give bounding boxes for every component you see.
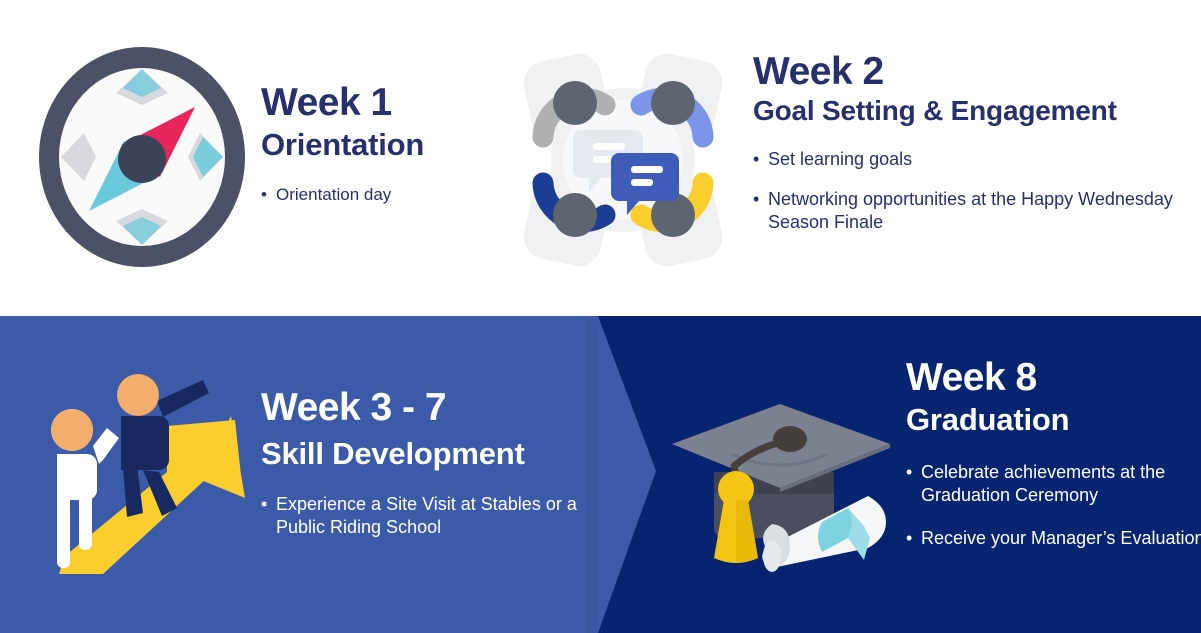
onboarding-journey-infographic: Week 1 Orientation • Orientation day Wee… xyxy=(0,0,1201,633)
list-item-label: Orientation day xyxy=(276,185,391,204)
list-item: • Receive your Manager’s Evaluation xyxy=(906,527,1201,550)
week2-week-label: Week 2 xyxy=(753,52,1173,93)
week1-bullet-list: • Orientation day xyxy=(261,184,424,206)
week2-text-block: Week 2 Goal Setting & Engagement • Set l… xyxy=(753,52,1173,251)
list-item-label: Set learning goals xyxy=(768,149,912,169)
bullet-marker-icon: • xyxy=(753,148,759,171)
week8-subtitle: Graduation xyxy=(906,403,1201,437)
week37-bullet-list: • Experience a Site Visit at Stables or … xyxy=(261,493,621,540)
week2-bullet-list: • Set learning goals • Networking opport… xyxy=(753,148,1173,234)
week1-text-block: Week 1 Orientation • Orientation day xyxy=(261,83,424,206)
week37-week-label: Week 3 - 7 xyxy=(261,388,621,429)
career-growth-arrow-icon xyxy=(35,368,255,586)
list-item: • Set learning goals xyxy=(753,148,1173,171)
list-item-label: Celebrate achievements at the Graduation… xyxy=(921,462,1165,505)
week1-subtitle: Orientation xyxy=(261,128,424,162)
compass-icon xyxy=(35,45,250,270)
week8-bullet-list: • Celebrate achievements at the Graduati… xyxy=(906,461,1201,551)
graduation-cap-icon xyxy=(662,396,902,582)
teamwork-icon xyxy=(513,45,733,275)
list-item-label: Experience a Site Visit at Stables or a … xyxy=(276,494,577,537)
bullet-marker-icon: • xyxy=(906,527,912,550)
list-item-label: Networking opportunities at the Happy We… xyxy=(768,189,1173,232)
week1-week-label: Week 1 xyxy=(261,83,424,124)
list-item-label: Receive your Manager’s Evaluation xyxy=(921,528,1201,548)
list-item: • Experience a Site Visit at Stables or … xyxy=(261,493,621,540)
week8-week-label: Week 8 xyxy=(906,358,1201,399)
week37-text-block: Week 3 - 7 Skill Development • Experienc… xyxy=(261,388,621,539)
bullet-marker-icon: • xyxy=(906,461,912,484)
bullet-marker-icon: • xyxy=(261,184,267,206)
list-item: • Celebrate achievements at the Graduati… xyxy=(906,461,1201,508)
list-item: • Networking opportunities at the Happy … xyxy=(753,188,1173,235)
week37-subtitle: Skill Development xyxy=(261,437,621,471)
bullet-marker-icon: • xyxy=(261,493,267,516)
list-item: • Orientation day xyxy=(261,184,424,206)
week2-subtitle: Goal Setting & Engagement xyxy=(753,96,1173,127)
bullet-marker-icon: • xyxy=(753,188,759,211)
week8-text-block: Week 8 Graduation • Celebrate achievemen… xyxy=(906,358,1201,571)
